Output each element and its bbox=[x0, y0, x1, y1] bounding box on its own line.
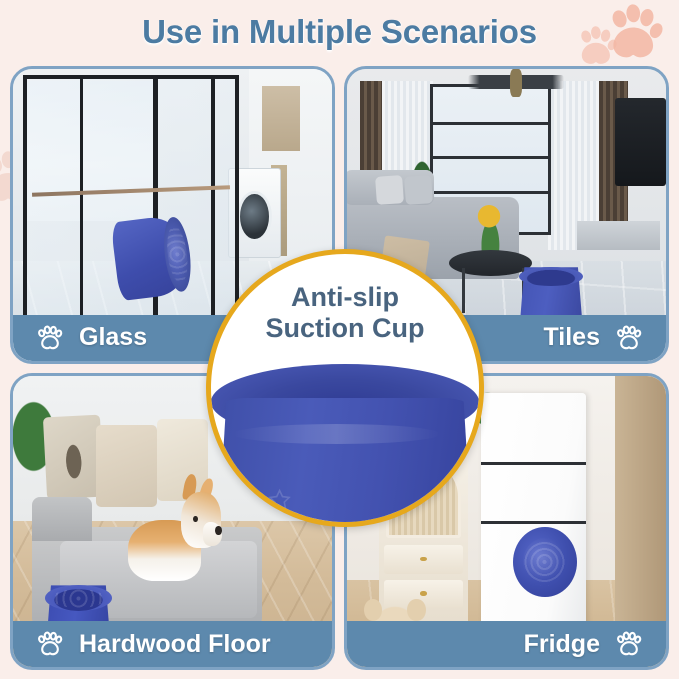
star-emboss-icon bbox=[267, 488, 292, 512]
paw-icon bbox=[35, 323, 65, 353]
badge-caption-line2: Suction Cup bbox=[211, 313, 479, 344]
badge-caption-line1: Anti-slip bbox=[211, 282, 479, 313]
scenario-label-text: Fridge bbox=[524, 630, 600, 659]
scenario-label-text: Glass bbox=[79, 323, 147, 352]
paw-icon bbox=[614, 323, 644, 353]
paw-icon bbox=[614, 629, 644, 659]
page-title-text: Use in Multiple Scenarios bbox=[142, 13, 537, 50]
product-hero-image bbox=[206, 364, 484, 527]
center-feature-badge: Anti-slip Suction Cup bbox=[206, 249, 484, 527]
product-bowl bbox=[111, 213, 193, 300]
scenario-label-fridge: Fridge bbox=[347, 621, 666, 667]
dog-illustration bbox=[128, 486, 217, 585]
paw-icon bbox=[35, 629, 65, 659]
scenario-label-text: Hardwood Floor bbox=[79, 630, 271, 659]
product-bowl bbox=[513, 527, 577, 597]
scenario-label-hardwood-floor: Hardwood Floor bbox=[13, 621, 332, 667]
page-title: Use in Multiple Scenarios bbox=[0, 13, 679, 51]
scenario-label-text: Tiles bbox=[543, 323, 600, 352]
badge-caption: Anti-slip Suction Cup bbox=[211, 282, 479, 345]
